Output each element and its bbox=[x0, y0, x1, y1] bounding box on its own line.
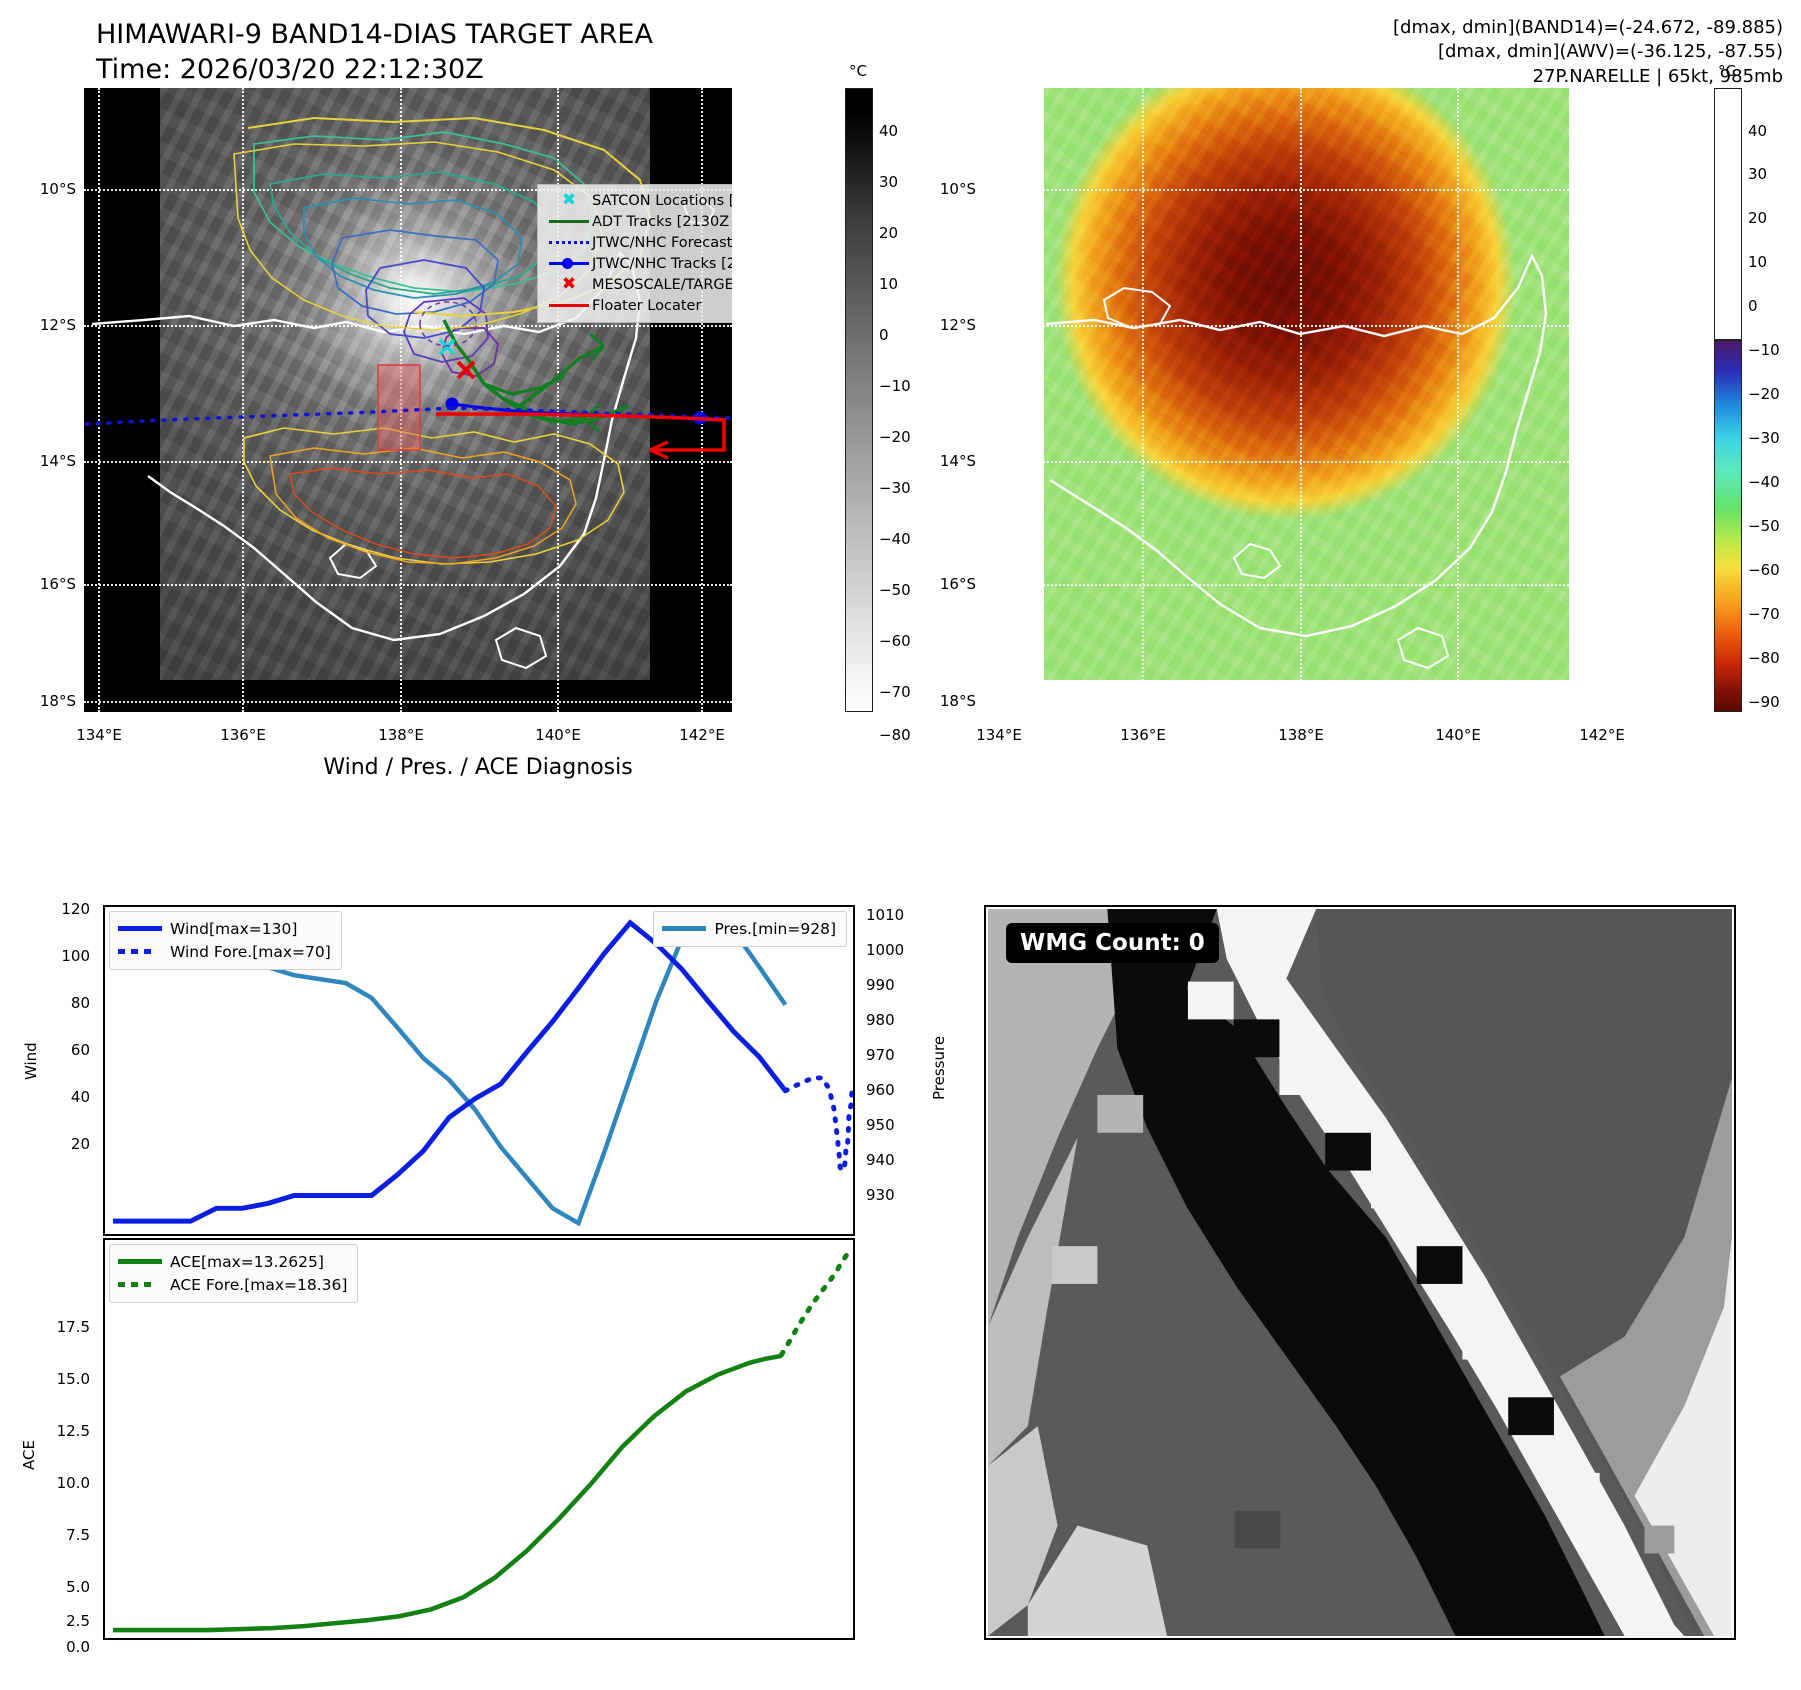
pres-ytick: 970 bbox=[866, 1046, 895, 1064]
ace-ytick: 2.5 bbox=[24, 1612, 90, 1630]
wind-pressure-chart[interactable]: Wind[max=130] Wind Fore.[max=70] Pres.[m… bbox=[103, 905, 855, 1236]
cbar-tick: 30 bbox=[1748, 165, 1767, 183]
cbar-tick: −20 bbox=[879, 428, 911, 446]
diagnosis-title: Wind / Pres. / ACE Diagnosis bbox=[98, 755, 858, 780]
legend-label: ADT Tracks [2130Z 72.2 981.0] bbox=[592, 214, 732, 230]
legend-label: ACE[max=13.2625] bbox=[170, 1253, 324, 1271]
gridline-lat-14s bbox=[984, 461, 1632, 463]
cbar-tick: −40 bbox=[1748, 473, 1780, 491]
cbar-tick: −80 bbox=[1748, 649, 1780, 667]
gridline-lat-18s bbox=[984, 701, 1632, 703]
cbar-tick: 0 bbox=[1748, 297, 1758, 315]
gridline-lon-134e bbox=[998, 88, 1000, 712]
color-ir-raster bbox=[1044, 88, 1569, 680]
wind-ytick: 120 bbox=[28, 900, 90, 918]
legend-item: ADT Tracks [2130Z 72.2 981.0] bbox=[546, 211, 732, 232]
cbar-tick: 20 bbox=[1748, 209, 1767, 227]
wind-forecast-dots-icon bbox=[118, 949, 170, 954]
legend-label: Wind Fore.[max=70] bbox=[170, 943, 331, 961]
wind-ytick: 100 bbox=[28, 947, 90, 965]
legend-label: Wind[max=130] bbox=[170, 920, 297, 938]
ace-ytick: 12.5 bbox=[24, 1422, 90, 1440]
cbar-tick: 40 bbox=[879, 122, 898, 140]
ytick-label: 16°S bbox=[910, 575, 976, 593]
ace-chart[interactable]: ACE[max=13.2625] ACE Fore.[max=18.36] bbox=[103, 1238, 855, 1640]
legend-item: Pres.[min=928] bbox=[662, 917, 836, 940]
pres-ytick: 940 bbox=[866, 1151, 895, 1169]
pressure-line-icon bbox=[662, 926, 714, 931]
xtick-label: 136°E bbox=[206, 726, 280, 744]
gridline-lon-142e bbox=[701, 88, 703, 712]
colorbar-unit-gray: °C bbox=[849, 62, 867, 80]
legend-label: MESOSCALE/TARGET Location bbox=[592, 277, 732, 293]
cbar-tick: 20 bbox=[879, 224, 898, 242]
xtick-label: 140°E bbox=[1421, 726, 1495, 744]
cbar-tick: −90 bbox=[1748, 693, 1780, 711]
cbar-tick: −50 bbox=[1748, 517, 1780, 535]
legend-item: JTWC/NHC Forecast [20/1800Z] bbox=[546, 232, 732, 253]
cbar-tick: −20 bbox=[1748, 385, 1780, 403]
gridline-lon-136e bbox=[242, 88, 244, 712]
colorbar-gray bbox=[845, 88, 873, 712]
xtick-label: 142°E bbox=[665, 726, 739, 744]
title-time: Time: 2026/03/20 22:12:30Z bbox=[96, 53, 653, 88]
gridline-lon-140e bbox=[557, 88, 559, 712]
gridline-lat-16s bbox=[984, 584, 1632, 586]
wind-ytick: 80 bbox=[28, 994, 90, 1012]
floater-line-icon bbox=[546, 304, 592, 307]
legend-label: SATCON Locations [1730Z 67 975] bbox=[592, 193, 732, 209]
xtick-label: 140°E bbox=[521, 726, 595, 744]
cbar-tick: −30 bbox=[879, 479, 911, 497]
legend-item: Wind Fore.[max=70] bbox=[118, 940, 331, 963]
cbar-tick: −60 bbox=[1748, 561, 1780, 579]
cbar-tick: 0 bbox=[879, 326, 889, 344]
cbar-tick: −70 bbox=[879, 683, 911, 701]
adt-line-icon bbox=[546, 220, 592, 223]
colorbar-color bbox=[1714, 340, 1742, 712]
pres-ytick: 950 bbox=[866, 1116, 895, 1134]
legend-label: Floater Locater bbox=[592, 298, 701, 314]
colorbar-unit-color: °C bbox=[1718, 62, 1736, 80]
gridline-lon-134e bbox=[98, 88, 100, 712]
legend-label: ACE Fore.[max=18.36] bbox=[170, 1276, 347, 1294]
cbar-tick: −40 bbox=[879, 530, 911, 548]
wind-legend: Wind[max=130] Wind Fore.[max=70] bbox=[109, 911, 342, 970]
legend-label: JTWC/NHC Tracks [20/1800Z] bbox=[592, 256, 732, 272]
satellite-image-color[interactable] bbox=[984, 88, 1632, 712]
xtick-label: 136°E bbox=[1106, 726, 1180, 744]
wmg-panel[interactable]: WMG Count: 0 bbox=[984, 905, 1736, 1640]
wind-ytick: 20 bbox=[28, 1135, 90, 1153]
legend-item: ACE[max=13.2625] bbox=[118, 1250, 347, 1273]
ytick-label: 14°S bbox=[10, 452, 76, 470]
cbar-tick: −10 bbox=[879, 377, 911, 395]
ace-legend: ACE[max=13.2625] ACE Fore.[max=18.36] bbox=[109, 1244, 358, 1303]
gridline-lon-140e bbox=[1457, 88, 1459, 712]
ytick-label: 12°S bbox=[10, 316, 76, 334]
gridline-lat-12s bbox=[84, 325, 732, 327]
ace-ytick: 10.0 bbox=[24, 1474, 90, 1492]
gridline-lon-136e bbox=[1142, 88, 1144, 712]
page-title: HIMAWARI-9 BAND14-DIAS TARGET AREA Time:… bbox=[96, 18, 653, 87]
xtick-label: 138°E bbox=[364, 726, 438, 744]
pres-ytick: 1000 bbox=[866, 941, 904, 959]
jtwc-track-icon bbox=[546, 262, 592, 265]
dashboard-root: HIMAWARI-9 BAND14-DIAS TARGET AREA Time:… bbox=[0, 0, 1801, 1690]
cbar-tick: 30 bbox=[879, 173, 898, 191]
gridline-lat-10s bbox=[984, 189, 1632, 191]
pres-ytick: 930 bbox=[866, 1186, 895, 1204]
pres-ytick: 1010 bbox=[866, 906, 904, 924]
pressure-axis-label: Pressure bbox=[930, 1036, 948, 1100]
cbar-tick: 10 bbox=[1748, 253, 1767, 271]
ace-line-icon bbox=[118, 1259, 170, 1264]
wind-line-icon bbox=[118, 926, 170, 931]
legend-item: Wind[max=130] bbox=[118, 917, 331, 940]
colorbar-color-top bbox=[1714, 88, 1742, 340]
cbar-tick: 10 bbox=[879, 275, 898, 293]
ace-ytick: 17.5 bbox=[24, 1318, 90, 1336]
gridline-lat-12s bbox=[984, 325, 1632, 327]
forecast-dotted-icon bbox=[546, 241, 592, 244]
cbar-tick: −30 bbox=[1748, 429, 1780, 447]
dmax-band14-text: [dmax, dmin](BAND14)=(-24.672, -89.885) bbox=[1393, 16, 1783, 40]
target-x-icon: ✖ bbox=[546, 276, 592, 293]
wind-ytick: 40 bbox=[28, 1088, 90, 1106]
ace-ytick: 0.0 bbox=[24, 1638, 90, 1656]
ace-axis-label: ACE bbox=[20, 1440, 38, 1470]
title-main: HIMAWARI-9 BAND14-DIAS TARGET AREA bbox=[96, 18, 653, 53]
legend-label: JTWC/NHC Forecast [20/1800Z] bbox=[592, 235, 732, 251]
gridline-lon-138e bbox=[400, 88, 402, 712]
ytick-label: 18°S bbox=[10, 692, 76, 710]
ytick-label: 12°S bbox=[910, 316, 976, 334]
gridline-lon-138e bbox=[1300, 88, 1302, 712]
map-legend-gray: ✖ SATCON Locations [1730Z 67 975] ADT Tr… bbox=[537, 184, 732, 323]
xtick-label: 134°E bbox=[962, 726, 1036, 744]
xtick-label: 138°E bbox=[1264, 726, 1338, 744]
xtick-label: 134°E bbox=[62, 726, 136, 744]
cbar-tick: −60 bbox=[879, 632, 911, 650]
legend-item: Floater Locater bbox=[546, 295, 732, 316]
gridline-lat-14s bbox=[84, 461, 732, 463]
pressure-legend: Pres.[min=928] bbox=[653, 911, 847, 947]
satellite-image-gray[interactable]: ✖ SATCON Locations [1730Z 67 975] ADT Tr… bbox=[84, 88, 732, 712]
legend-item: ACE Fore.[max=18.36] bbox=[118, 1273, 347, 1296]
pres-ytick: 990 bbox=[866, 976, 895, 994]
ace-ytick: 7.5 bbox=[24, 1526, 90, 1544]
pres-ytick: 980 bbox=[866, 1011, 895, 1029]
xtick-label: 142°E bbox=[1565, 726, 1639, 744]
ace-ytick: 15.0 bbox=[24, 1370, 90, 1388]
ytick-label: 16°S bbox=[10, 575, 76, 593]
ytick-label: 10°S bbox=[910, 180, 976, 198]
satcon-x-icon: ✖ bbox=[546, 192, 592, 209]
cbar-tick: −10 bbox=[1748, 341, 1780, 359]
legend-item: ✖ MESOSCALE/TARGET Location bbox=[546, 274, 732, 295]
gridline-lat-18s bbox=[84, 701, 732, 703]
ace-forecast-dots-icon bbox=[118, 1282, 170, 1287]
gridline-lon-142e bbox=[1601, 88, 1603, 712]
cbar-tick: 40 bbox=[1748, 122, 1767, 140]
wmg-count-badge: WMG Count: 0 bbox=[1006, 923, 1219, 963]
cbar-tick: −80 bbox=[879, 726, 911, 744]
gridline-lat-16s bbox=[84, 584, 732, 586]
ace-ytick: 5.0 bbox=[24, 1578, 90, 1596]
ytick-label: 18°S bbox=[910, 692, 976, 710]
cbar-tick: −50 bbox=[879, 581, 911, 599]
ytick-label: 14°S bbox=[910, 452, 976, 470]
legend-item: JTWC/NHC Tracks [20/1800Z] bbox=[546, 253, 732, 274]
legend-item: ✖ SATCON Locations [1730Z 67 975] bbox=[546, 190, 732, 211]
gray-ir-raster bbox=[160, 88, 650, 680]
wind-axis-label: Wind bbox=[22, 1042, 40, 1080]
legend-label: Pres.[min=928] bbox=[714, 920, 836, 938]
ytick-label: 10°S bbox=[10, 180, 76, 198]
wmg-blocks bbox=[988, 909, 1732, 1636]
cbar-tick: −70 bbox=[1748, 605, 1780, 623]
wmg-raster: WMG Count: 0 bbox=[988, 909, 1732, 1636]
pres-ytick: 960 bbox=[866, 1081, 895, 1099]
